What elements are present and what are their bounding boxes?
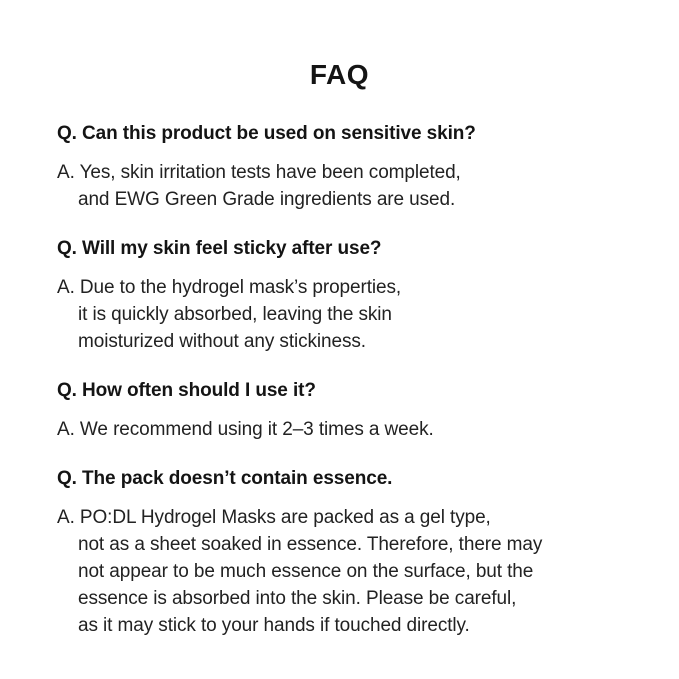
faq-question: Q. How often should I use it? — [57, 377, 655, 404]
faq-answer: A. PO:DL Hydrogel Masks are packed as a … — [57, 504, 655, 639]
faq-answer: A. We recommend using it 2–3 times a wee… — [57, 416, 655, 443]
faq-item: Q. Can this product be used on sensitive… — [57, 120, 655, 213]
faq-item: Q. The pack doesn’t contain essence. A. … — [57, 465, 655, 639]
faq-answer: A. Yes, skin irritation tests have been … — [57, 159, 655, 213]
faq-answer: A. Due to the hydrogel mask’s properties… — [57, 274, 655, 355]
faq-question: Q. Will my skin feel sticky after use? — [57, 235, 655, 262]
faq-question: Q. Can this product be used on sensitive… — [57, 120, 655, 147]
faq-page: FAQ Q. Can this product be used on sensi… — [0, 0, 679, 679]
faq-list: Q. Can this product be used on sensitive… — [0, 92, 679, 639]
faq-item: Q. How often should I use it? A. We reco… — [57, 377, 655, 443]
faq-question: Q. The pack doesn’t contain essence. — [57, 465, 655, 492]
faq-item: Q. Will my skin feel sticky after use? A… — [57, 235, 655, 355]
page-title: FAQ — [0, 0, 679, 92]
